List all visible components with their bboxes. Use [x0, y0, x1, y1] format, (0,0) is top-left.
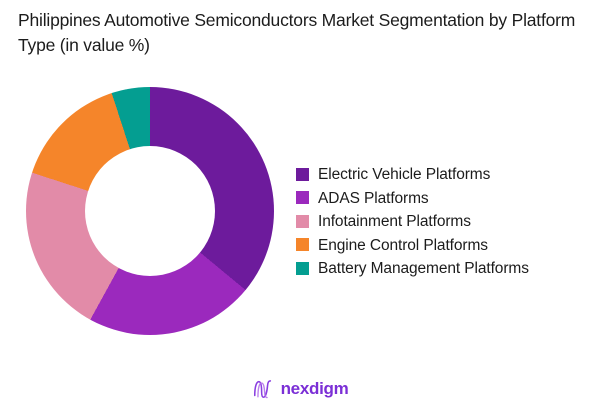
legend-item[interactable]: Electric Vehicle Platforms — [296, 164, 592, 185]
legend-swatch-icon — [296, 238, 309, 251]
legend-item-label: ADAS Platforms — [318, 188, 429, 209]
brand-logo: nexdigm — [0, 378, 600, 400]
legend-item-label: Infotainment Platforms — [318, 211, 471, 232]
legend-swatch-icon — [296, 191, 309, 204]
legend-item-label: Engine Control Platforms — [318, 235, 488, 256]
legend-swatch-icon — [296, 215, 309, 228]
legend-swatch-icon — [296, 262, 309, 275]
nexdigm-wave-mark-icon — [252, 378, 274, 400]
chart-legend: Electric Vehicle PlatformsADAS Platforms… — [296, 164, 592, 282]
chart-page: Philippines Automotive Semiconductors Ma… — [0, 0, 600, 418]
donut-chart — [26, 87, 274, 335]
legend-swatch-icon — [296, 168, 309, 181]
legend-item[interactable]: Engine Control Platforms — [296, 235, 592, 256]
legend-item-label: Electric Vehicle Platforms — [318, 164, 490, 185]
page-title: Philippines Automotive Semiconductors Ma… — [18, 8, 584, 58]
legend-item[interactable]: Infotainment Platforms — [296, 211, 592, 232]
brand-logo-text: nexdigm — [281, 379, 349, 399]
legend-item[interactable]: ADAS Platforms — [296, 188, 592, 209]
donut-center-hole — [85, 146, 215, 276]
donut-ring — [26, 87, 274, 335]
legend-item-label: Battery Management Platforms — [318, 258, 529, 279]
legend-item[interactable]: Battery Management Platforms — [296, 258, 592, 279]
